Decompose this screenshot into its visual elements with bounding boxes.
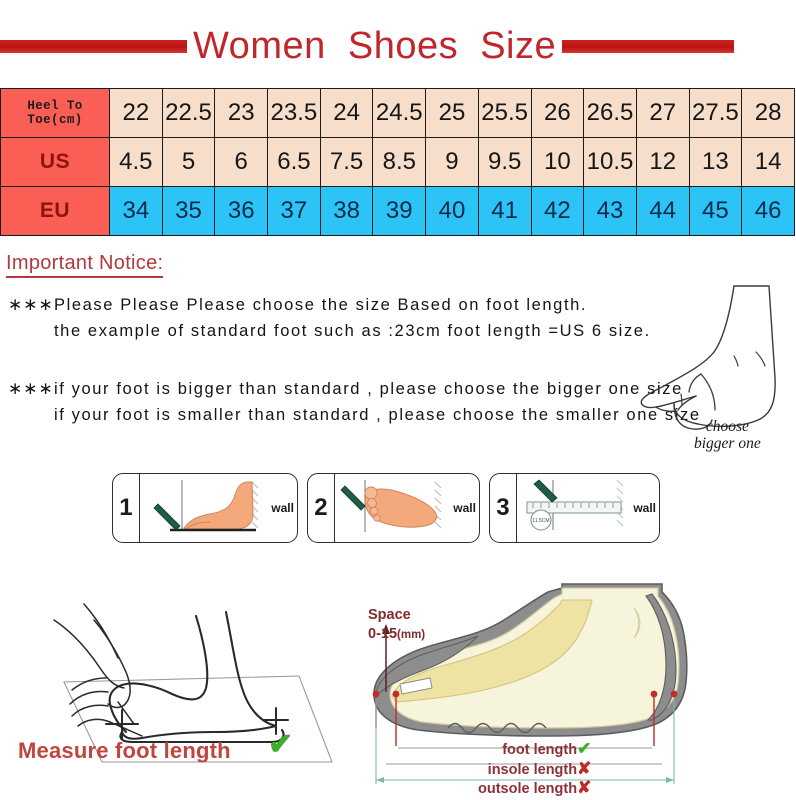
cell-eu-2: 36 (215, 187, 268, 236)
step-panel-1: 1 wall (112, 473, 298, 543)
notice-line: if your foot is smaller than standard , … (8, 402, 701, 428)
cell-heel-10: 27 (636, 89, 689, 138)
cell-eu-4: 38 (320, 187, 373, 236)
step-panel-2: 2 wall (307, 473, 480, 543)
cell-eu-1: 35 (162, 187, 215, 236)
cell-heel-0: 22 (110, 89, 163, 138)
cell-heel-6: 25 (426, 89, 479, 138)
page-title: Women Shoes Size (187, 27, 562, 65)
cell-heel-5: 24.5 (373, 89, 426, 138)
size-table: Heel To Toe(cm) 22 22.5 23 23.5 24 24.5 … (0, 88, 795, 236)
table-row-heel-to-toe: Heel To Toe(cm) 22 22.5 23 23.5 24 24.5 … (1, 89, 795, 138)
table-row-eu: EU 34 35 36 37 38 39 40 41 42 43 44 45 4… (1, 187, 795, 236)
notice-line: the example of standard foot such as :23… (8, 318, 651, 344)
space-label-line-1: Space (368, 606, 425, 625)
notice-line: ∗∗∗if your foot is bigger than standard … (8, 376, 701, 402)
cell-us-7: 9.5 (478, 138, 531, 187)
measurement-steps: 1 wall 2 (112, 473, 660, 543)
space-label: Space 0-15(mm) (368, 606, 425, 645)
cell-heel-8: 26 (531, 89, 584, 138)
notice-paragraph-2: ∗∗∗if your foot is bigger than standard … (8, 376, 701, 428)
important-notice-heading: Important Notice: (6, 252, 163, 278)
cell-heel-2: 23 (215, 89, 268, 138)
cell-us-6: 9 (426, 138, 479, 187)
cell-heel-4: 24 (320, 89, 373, 138)
cell-us-3: 6.5 (268, 138, 321, 187)
foot-length-text: foot length (502, 742, 577, 758)
cell-eu-6: 40 (426, 187, 479, 236)
step-illustration-3: 11.5CM wall (517, 474, 659, 542)
notice-line: ∗∗∗Please Please Please choose the size … (8, 292, 651, 318)
cell-heel-3: 23.5 (268, 89, 321, 138)
step-illustration-2: wall (335, 474, 479, 542)
cell-heel-11: 27.5 (689, 89, 742, 138)
notice-text: the example of standard foot such as :23… (54, 322, 651, 340)
row-label-heel-to-toe: Heel To Toe(cm) (1, 89, 110, 138)
foot-caption-line-1: choose (694, 418, 761, 435)
label-outsole-length: outsole length✘ (478, 779, 591, 799)
step-number-2: 2 (308, 474, 335, 542)
length-measurement-labels: foot length✔ insole length✘ outsole leng… (478, 740, 591, 799)
cell-us-11: 13 (689, 138, 742, 187)
cell-eu-12: 46 (742, 187, 795, 236)
step-illustration-1: wall (140, 474, 297, 542)
cross-mark-icon: ✘ (577, 778, 591, 797)
check-mark-icon: ✔ (577, 739, 591, 758)
cell-heel-7: 25.5 (478, 89, 531, 138)
wall-label-1: wall (271, 501, 294, 515)
notice-text: if your foot is smaller than standard , … (54, 406, 701, 424)
foot-caption-line-2: bigger one (694, 435, 761, 452)
page-title-row: Women Shoes Size (0, 20, 796, 72)
cell-heel-1: 22.5 (162, 89, 215, 138)
cell-heel-9: 26.5 (584, 89, 637, 138)
outsole-length-text: outsole length (478, 781, 577, 797)
cell-us-5: 8.5 (373, 138, 426, 187)
measure-foot-illustration (14, 572, 339, 798)
cell-us-12: 14 (742, 138, 795, 187)
step-panel-3: 3 (489, 473, 660, 543)
size-chart-page: Women Shoes Size Heel To Toe(cm) 22 22.5… (0, 0, 796, 800)
cell-eu-0: 34 (110, 187, 163, 236)
measure-foot-caption: Measure foot length (18, 738, 231, 764)
cell-us-2: 6 (215, 138, 268, 187)
row-label-eu: EU (1, 187, 110, 236)
notice-text: if your foot is bigger than standard , p… (54, 380, 683, 398)
step-number-1: 1 (113, 474, 140, 542)
row-label-us: US (1, 138, 110, 187)
cell-eu-9: 43 (584, 187, 637, 236)
insole-length-text: insole length (488, 762, 577, 778)
title-bar-right (562, 40, 734, 53)
cell-us-10: 12 (636, 138, 689, 187)
notice-paragraph-1: ∗∗∗Please Please Please choose the size … (8, 292, 651, 344)
cell-eu-11: 45 (689, 187, 742, 236)
label-foot-length: foot length✔ (478, 740, 591, 760)
wall-label-3: wall (633, 501, 656, 515)
table-row-us: US 4.5 5 6 6.5 7.5 8.5 9 9.5 10 10.5 12 … (1, 138, 795, 187)
notice-text: Please Please Please choose the size Bas… (54, 296, 587, 314)
cell-heel-12: 28 (742, 89, 795, 138)
cell-eu-7: 41 (478, 187, 531, 236)
step-number-3: 3 (490, 474, 517, 542)
cell-eu-10: 44 (636, 187, 689, 236)
cell-us-4: 7.5 (320, 138, 373, 187)
bullet-marker-icon: ∗∗∗ (8, 376, 54, 402)
space-range: 0-15 (368, 626, 397, 642)
bullet-marker-icon: ∗∗∗ (8, 292, 54, 318)
cell-eu-8: 42 (531, 187, 584, 236)
foot-sketch-caption: choose bigger one (694, 418, 761, 452)
cell-eu-5: 39 (373, 187, 426, 236)
wall-label-2: wall (453, 501, 476, 515)
space-label-line-2: 0-15(mm) (368, 625, 425, 645)
cell-us-1: 5 (162, 138, 215, 187)
cross-mark-icon: ✘ (577, 759, 591, 778)
cell-us-0: 4.5 (110, 138, 163, 187)
cell-us-8: 10 (531, 138, 584, 187)
cell-eu-3: 37 (268, 187, 321, 236)
check-mark-icon: ✔ (268, 730, 293, 760)
label-insole-length: insole length✘ (478, 760, 591, 780)
title-bar-left (0, 40, 187, 53)
svg-text:11.5CM: 11.5CM (532, 518, 549, 524)
cell-us-9: 10.5 (584, 138, 637, 187)
space-unit: (mm) (397, 629, 425, 641)
